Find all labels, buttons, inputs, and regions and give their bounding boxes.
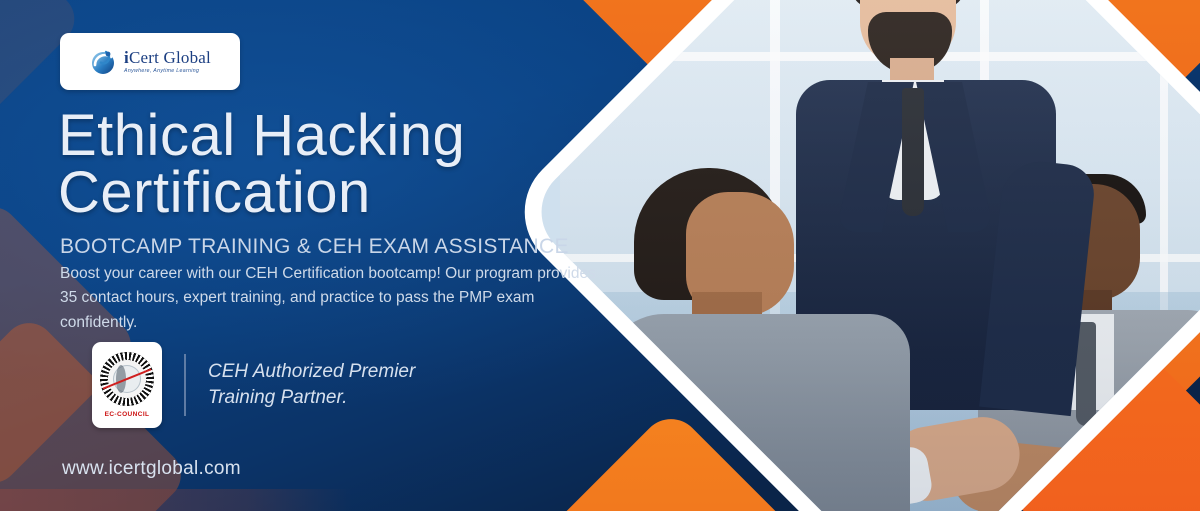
page-description: Boost your career with our CEH Certifica… <box>60 262 608 335</box>
ec-council-badge: EC-COUNCIL <box>92 342 162 428</box>
partner-block: EC-COUNCIL CEH Authorized Premier Traini… <box>92 342 415 428</box>
brand-logo[interactable]: iCert Global Anywhere, Anytime Learning <box>60 33 240 90</box>
bottom-strip-tint <box>0 489 352 511</box>
ec-council-badge-label: EC-COUNCIL <box>105 411 150 418</box>
brand-logo-row: iCert Global Anywhere, Anytime Learning <box>89 47 211 77</box>
brand-name-rest: Cert Global <box>129 48 211 67</box>
brand-logo-text: iCert Global Anywhere, Anytime Learning <box>124 49 211 74</box>
brand-name: iCert Global <box>124 49 211 66</box>
ec-council-seal-icon <box>100 352 154 406</box>
website-url[interactable]: www.icertglobal.com <box>62 458 241 480</box>
page-title-line-1: Ethical Hacking <box>58 108 638 165</box>
content-column: iCert Global Anywhere, Anytime Learning … <box>0 0 640 520</box>
promo-banner: iCert Global Anywhere, Anytime Learning … <box>0 0 1200 520</box>
page-subtitle: BOOTCAMP TRAINING & CEH EXAM ASSISTANCE <box>60 235 569 259</box>
bottom-white-strip <box>0 511 1200 520</box>
partner-divider <box>184 354 186 416</box>
page-title-line-2: Certification <box>58 165 638 222</box>
brand-tagline: Anywhere, Anytime Learning <box>124 69 211 74</box>
partner-text: CEH Authorized Premier Training Partner. <box>208 359 415 410</box>
swoosh-globe-icon <box>89 47 119 77</box>
page-title: Ethical Hacking Certification <box>58 108 638 222</box>
